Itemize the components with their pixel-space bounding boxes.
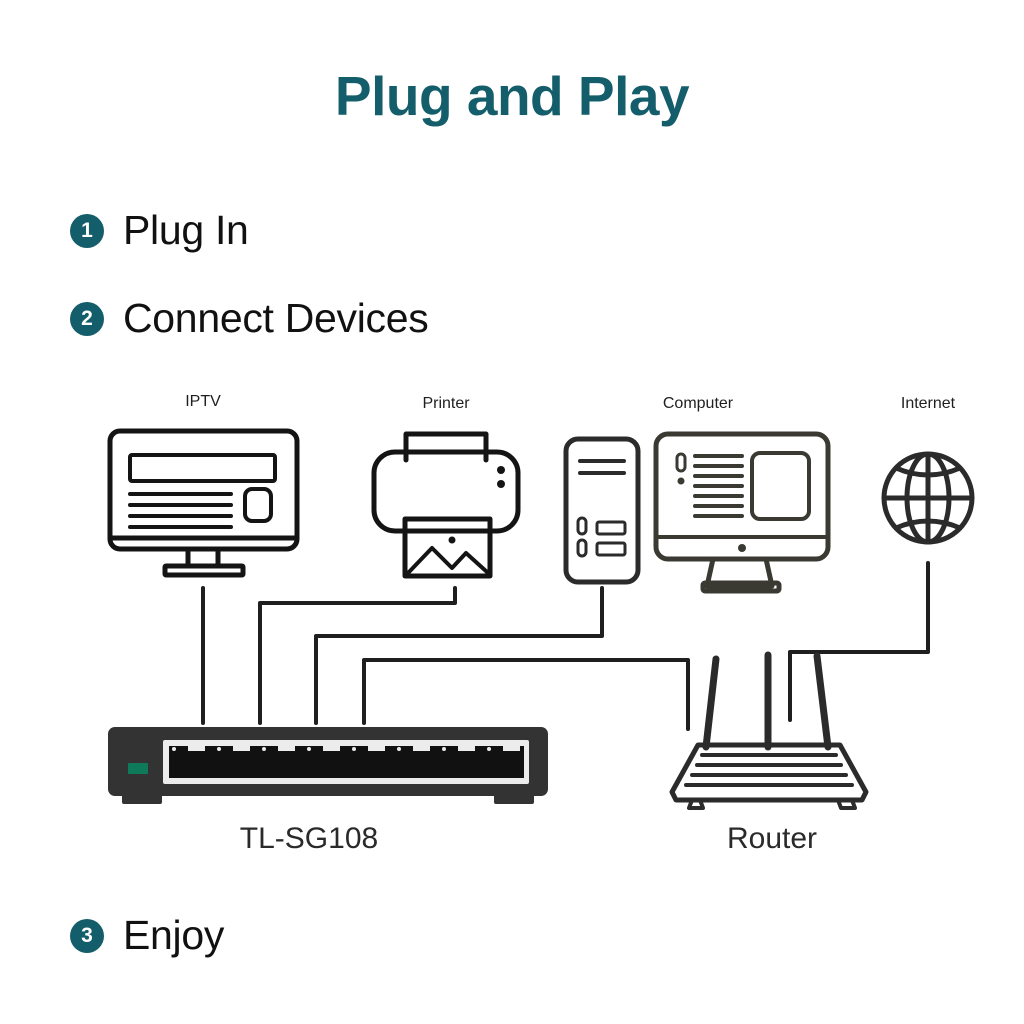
cable-internet-to-router [790, 563, 928, 720]
hardware-label-switch: TL-SG108 [240, 824, 378, 854]
step-label-1: Plug In [123, 210, 249, 251]
monitor-icon [656, 434, 828, 591]
step-item-3: 3 Enjoy [70, 915, 224, 956]
step-label-3: Enjoy [123, 915, 224, 956]
cable-group [203, 563, 928, 729]
router-antenna-left [706, 659, 716, 747]
hardware-label-router: Router [727, 824, 817, 854]
step-label-2: Connect Devices [123, 298, 428, 339]
device-label-printer: Printer [422, 396, 469, 412]
step-badge-2: 2 [70, 302, 104, 336]
device-label-computer: Computer [663, 396, 733, 412]
desktop-tower-icon [566, 439, 638, 582]
switch-power-led [128, 763, 148, 774]
network-switch-icon [108, 727, 548, 804]
tv-icon [110, 431, 297, 575]
device-label-internet: Internet [901, 396, 955, 412]
globe-icon [884, 454, 972, 542]
router-icon [672, 655, 866, 808]
cable-tower [316, 588, 602, 723]
cable-printer [260, 588, 455, 723]
page-title: Plug and Play [0, 66, 1024, 127]
step-badge-3: 3 [70, 919, 104, 953]
plug-and-play-page: Plug and Play 1 Plug In 2 Connect Device… [0, 0, 1024, 1024]
router-antenna-right [817, 656, 828, 747]
cable-switch-to-router [364, 660, 688, 729]
device-label-iptv: IPTV [185, 394, 221, 410]
step-item-1: 1 Plug In [70, 210, 249, 251]
network-diagram [0, 0, 1024, 1024]
step-item-2: 2 Connect Devices [70, 298, 428, 339]
step-badge-1: 1 [70, 214, 104, 248]
printer-icon [374, 434, 518, 576]
